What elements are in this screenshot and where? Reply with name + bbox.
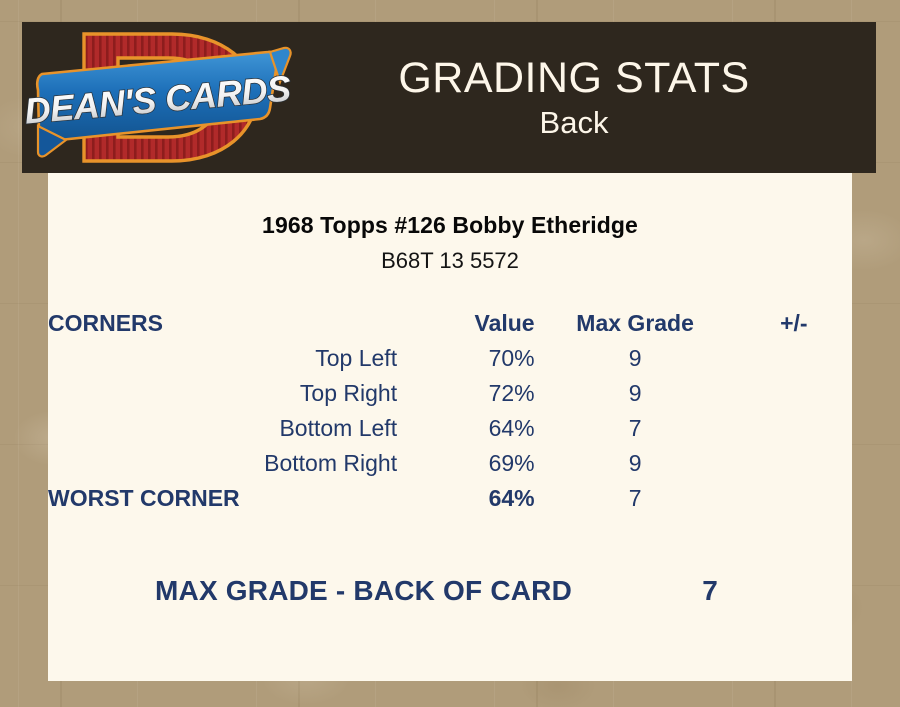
table-row: Bottom Right 69% 9 (48, 446, 852, 481)
max-grade-summary: MAX GRADE - BACK OF CARD 7 (48, 575, 852, 607)
row-label: Top Left (48, 341, 397, 376)
deans-cards-logo[interactable]: DEAN'S CARDS (22, 22, 296, 173)
row-label: Top Right (48, 376, 397, 411)
column-header-max-grade: Max Grade (535, 306, 736, 341)
row-max-grade: 9 (535, 376, 736, 411)
row-delta (736, 376, 852, 411)
page-subtitle: Back (296, 103, 852, 143)
header-title-block: GRADING STATS Back (296, 53, 876, 143)
row-max-grade: 9 (535, 341, 736, 376)
max-grade-label: MAX GRADE - BACK OF CARD (155, 575, 572, 607)
row-max-grade: 7 (535, 481, 736, 516)
row-delta (736, 481, 852, 516)
logo-artwork: DEAN'S CARDS (22, 22, 296, 173)
row-delta (736, 411, 852, 446)
table-row: Top Left 70% 9 (48, 341, 852, 376)
row-value: 70% (397, 341, 535, 376)
column-header-corners: CORNERS (48, 306, 397, 341)
table-row: Bottom Left 64% 7 (48, 411, 852, 446)
page-title: GRADING STATS (296, 53, 852, 103)
header-bar: DEAN'S CARDS GRADING STATS Back (22, 22, 876, 173)
column-header-delta: +/- (736, 306, 852, 341)
row-value: 64% (397, 411, 535, 446)
row-delta (736, 341, 852, 376)
row-max-grade: 9 (535, 446, 736, 481)
corners-stats-table: CORNERS Value Max Grade +/- Top Left 70%… (48, 306, 852, 516)
card-subtitle: B68T 13 5572 (48, 248, 852, 274)
row-value: 72% (397, 376, 535, 411)
row-value: 64% (397, 481, 535, 516)
card-title: 1968 Topps #126 Bobby Etheridge (48, 212, 852, 239)
row-max-grade: 7 (535, 411, 736, 446)
row-delta (736, 446, 852, 481)
table-header-row: CORNERS Value Max Grade +/- (48, 306, 852, 341)
row-value: 69% (397, 446, 535, 481)
column-header-value: Value (397, 306, 535, 341)
max-grade-value: 7 (675, 575, 745, 607)
row-label: WORST CORNER (48, 481, 397, 516)
row-label: Bottom Right (48, 446, 397, 481)
table-body: Top Left 70% 9 Top Right 72% 9 Bottom Le… (48, 341, 852, 516)
table-row-worst-corner: WORST CORNER 64% 7 (48, 481, 852, 516)
row-label: Bottom Left (48, 411, 397, 446)
content-panel: 1968 Topps #126 Bobby Etheridge B68T 13 … (48, 173, 852, 681)
table-row: Top Right 72% 9 (48, 376, 852, 411)
